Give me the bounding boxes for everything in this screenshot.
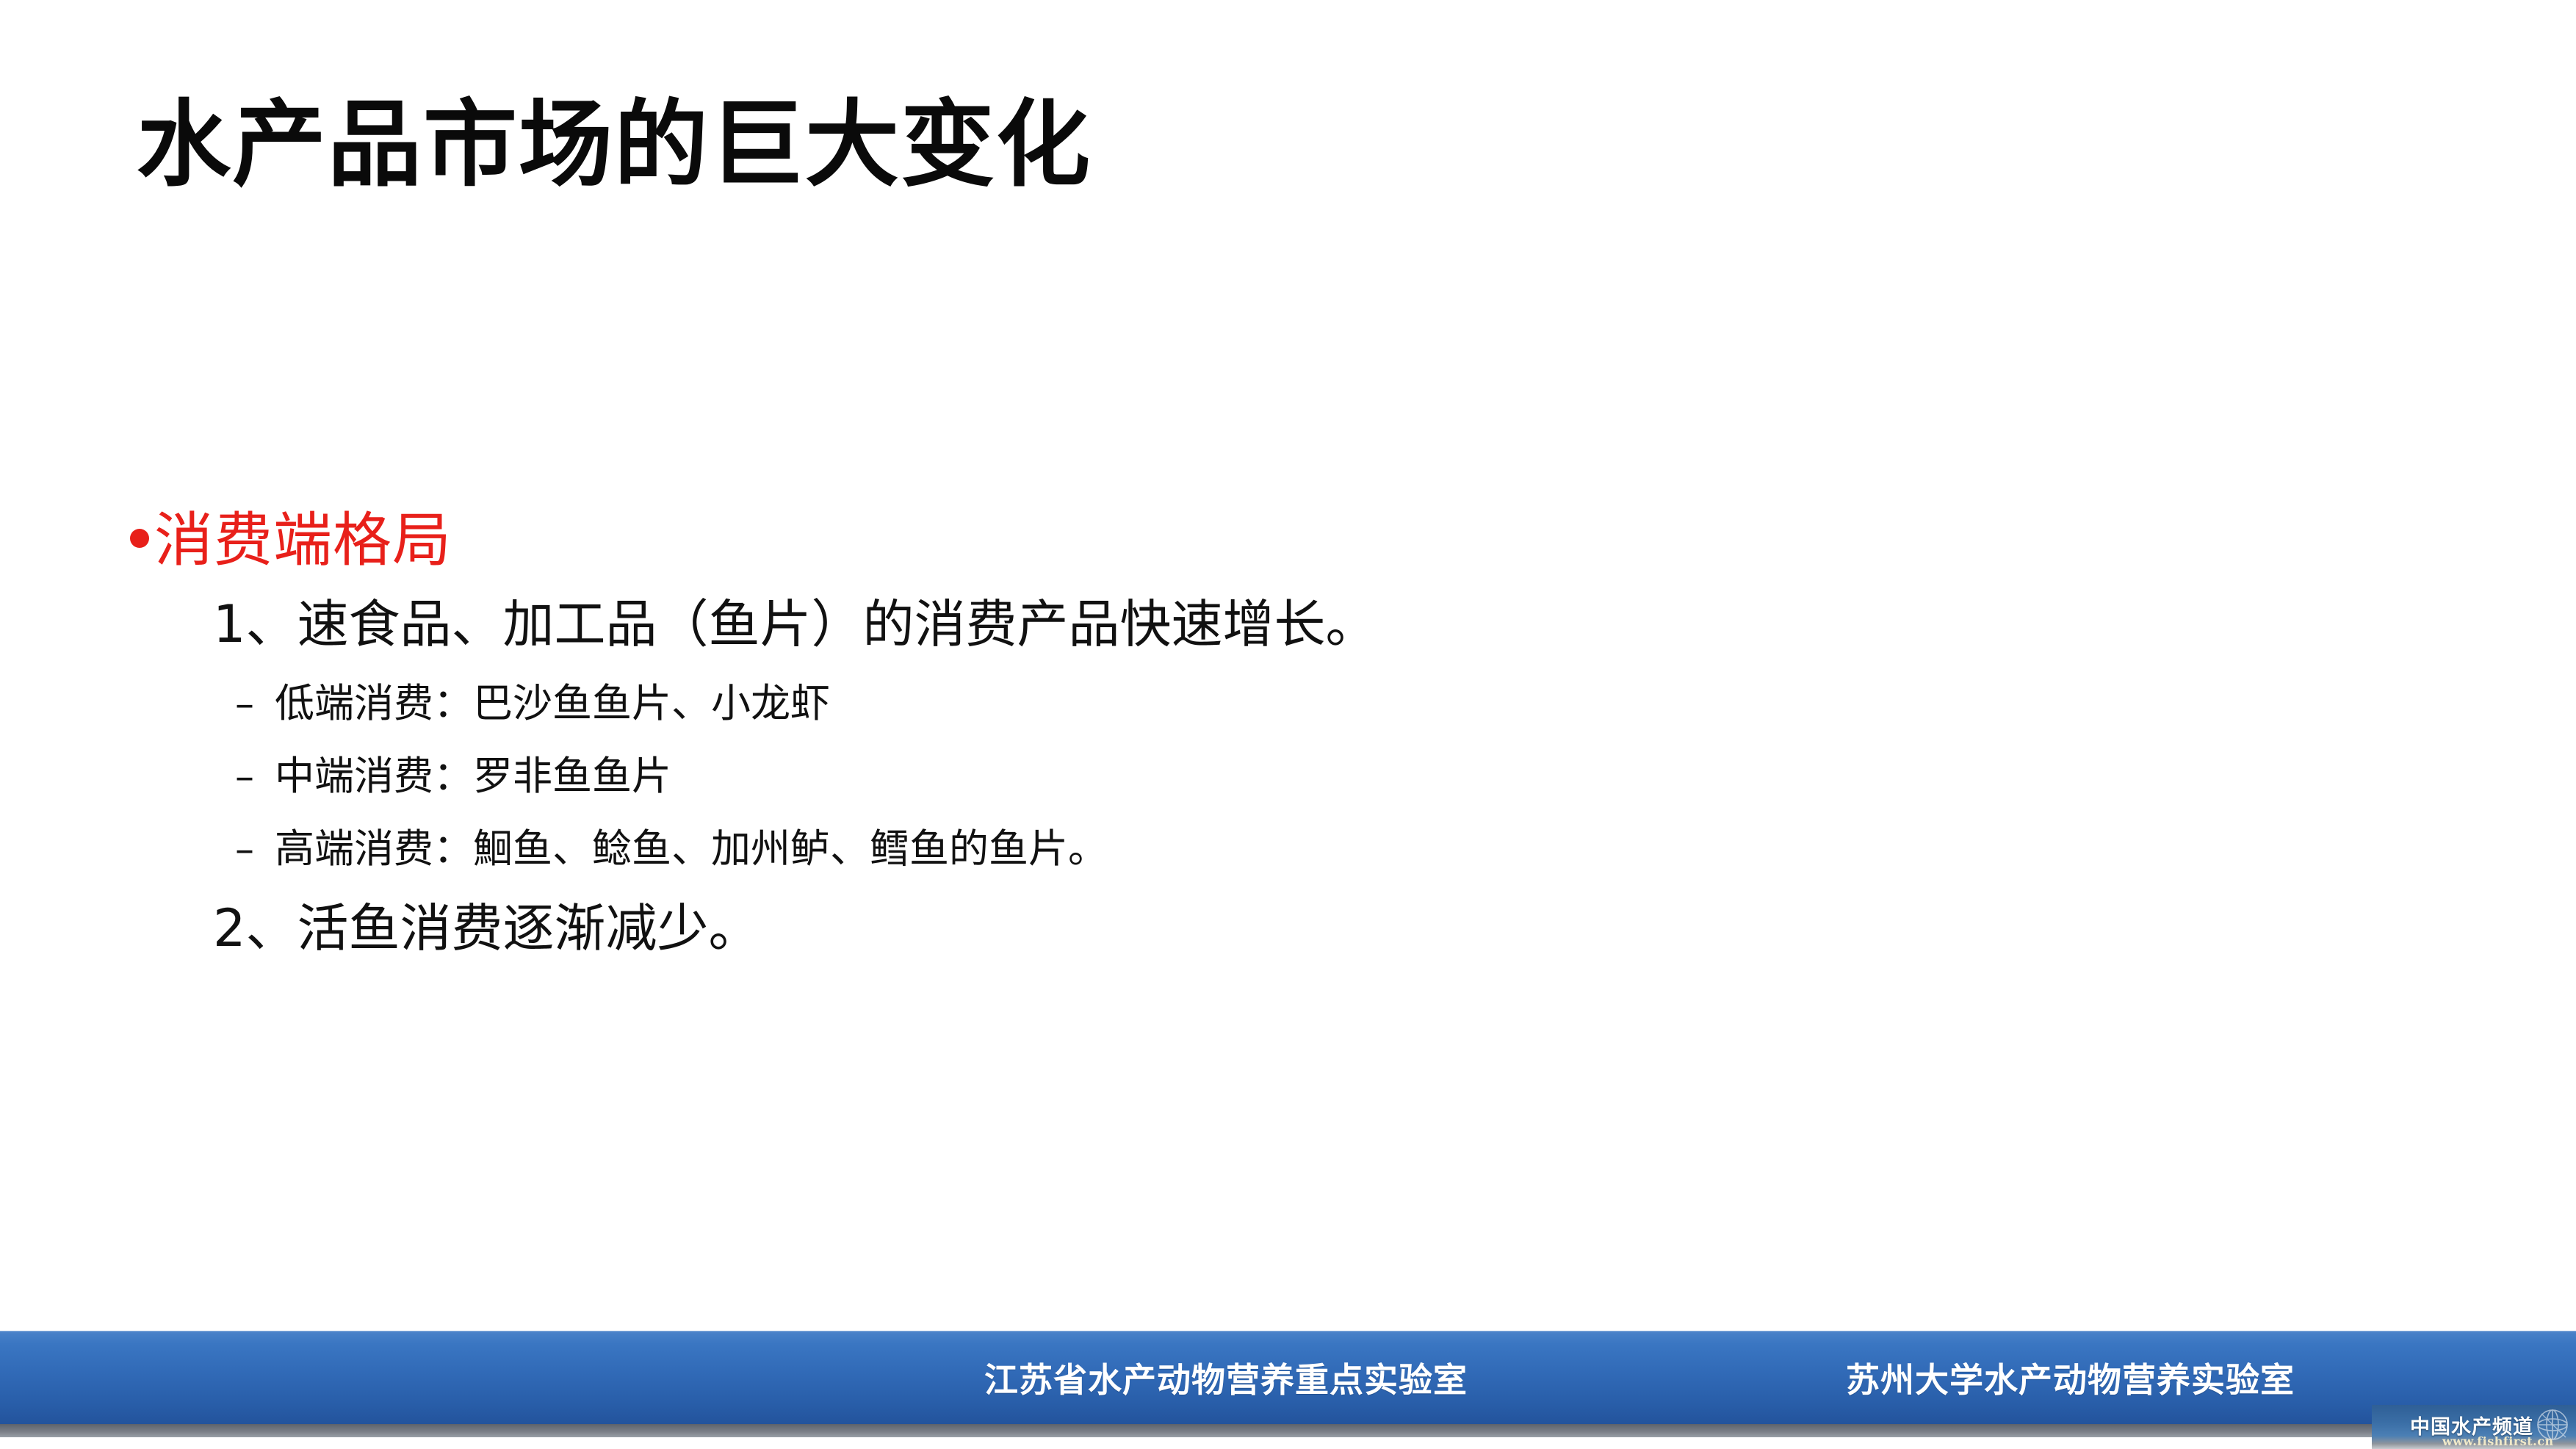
footer-bar: 江苏省水产动物营养重点实验室 苏州大学水产动物营养实验室 xyxy=(0,1331,2576,1424)
bullet-dot-icon xyxy=(130,529,149,548)
dash-marker-icon: – xyxy=(235,758,275,796)
bullet-item-label: 消费端格局 xyxy=(154,507,452,574)
watermark: 中国水产频道 www.fishfirst.cn xyxy=(2372,1405,2576,1449)
dash-marker-icon: – xyxy=(235,685,275,723)
footer-content: 江苏省水产动物营养重点实验室 苏州大学水产动物营养实验室 xyxy=(0,1331,2576,1424)
footer-base-strip xyxy=(0,1437,2576,1449)
list-item-number: 2、 xyxy=(213,897,297,959)
sub-list-item-label: 高端消费：鮰鱼、鲶鱼、加州鲈、鳕鱼的鱼片。 xyxy=(275,825,1108,873)
bullet-item-consumption-structure: 消费端格局 xyxy=(125,507,2328,574)
list-item: 2、 活鱼消费逐渐减少。 xyxy=(213,897,2328,959)
footer-lab-name-right: 苏州大学水产动物营养实验室 xyxy=(1846,1354,2295,1402)
list-item-number: 1、 xyxy=(213,593,297,655)
bullet-marker xyxy=(125,507,154,548)
dash-marker-icon: – xyxy=(235,831,275,869)
list-item-label: 速食品、加工品（鱼片）的消费产品快速增长。 xyxy=(297,593,1377,655)
footer-lab-name-left: 江苏省水产动物营养重点实验室 xyxy=(984,1354,1468,1402)
sub-list-item-label: 低端消费：巴沙鱼鱼片、小龙虾 xyxy=(275,680,830,728)
slide-body: 消费端格局 1、 速食品、加工品（鱼片）的消费产品快速增长。 – 低端消费：巴沙… xyxy=(125,507,2328,965)
footer-gray-strip xyxy=(0,1424,2576,1437)
sub-list-item: – 低端消费：巴沙鱼鱼片、小龙虾 xyxy=(235,680,2328,728)
list-item: 1、 速食品、加工品（鱼片）的消费产品快速增长。 xyxy=(213,593,2328,655)
slide-canvas: 水产品市场的巨大变化 消费端格局 1、 速食品、加工品（鱼片）的消费产品快速增长… xyxy=(0,0,2576,1449)
watermark-url: www.fishfirst.cn xyxy=(2442,1434,2554,1448)
sub-list-item: – 中端消费：罗非鱼鱼片 xyxy=(235,753,2328,801)
sub-list-item: – 高端消费：鮰鱼、鲶鱼、加州鲈、鳕鱼的鱼片。 xyxy=(235,825,2328,873)
page-title: 水产品市场的巨大变化 xyxy=(137,94,1092,198)
sub-list-item-label: 中端消费：罗非鱼鱼片 xyxy=(275,753,671,801)
list-item-label: 活鱼消费逐渐减少。 xyxy=(297,897,760,959)
